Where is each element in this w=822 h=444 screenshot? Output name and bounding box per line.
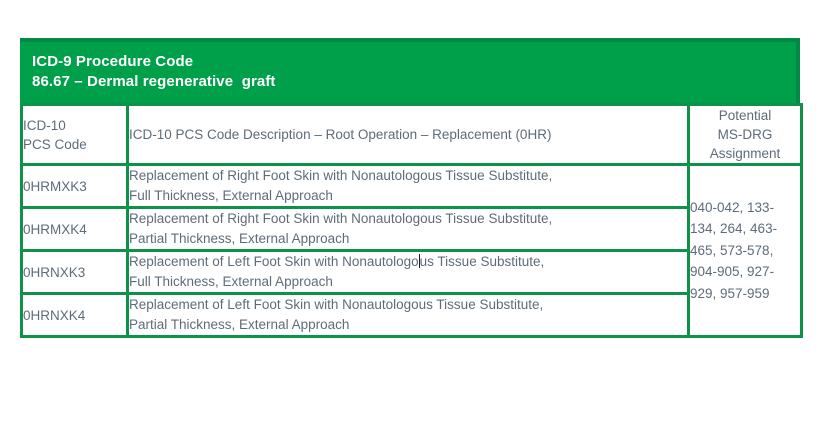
- cell-description-line1-part-a: Replacement of Left Foot Skin with Nonau…: [129, 254, 419, 269]
- banner-title-line1: ICD-9 Procedure Code: [32, 52, 796, 72]
- cell-pcs-code: 0HRMXK4: [22, 208, 128, 251]
- cell-description-line2: Full Thickness, External Approach: [129, 272, 687, 292]
- column-header-msdrg: Potential MS-DRG Assignment: [689, 105, 802, 165]
- cell-pcs-code: 0HRMXK3: [22, 165, 128, 208]
- page-canvas: ICD-9 Procedure Code 86.67 – Dermal rege…: [0, 0, 822, 444]
- column-header-msdrg-line3: Assignment: [690, 144, 800, 163]
- column-header-pcs-code-line2: PCS Code: [23, 135, 126, 154]
- cell-description-line2: Full Thickness, External Approach: [129, 186, 687, 206]
- table-row: 0HRMXK4 Replacement of Right Foot Skin w…: [22, 208, 802, 251]
- banner-header: ICD-9 Procedure Code 86.67 – Dermal rege…: [20, 38, 800, 103]
- column-header-pcs-code-line1: ICD-10: [23, 116, 126, 135]
- cell-description-line1-with-caret: Replacement of Left Foot Skin with Nonau…: [129, 252, 687, 272]
- cell-description[interactable]: Replacement of Left Foot Skin with Nonau…: [128, 294, 689, 337]
- cell-description-line1: Replacement of Right Foot Skin with Nona…: [129, 209, 687, 229]
- column-header-msdrg-line1: Potential: [690, 106, 800, 125]
- icd-reference-card: ICD-9 Procedure Code 86.67 – Dermal rege…: [20, 38, 800, 338]
- cell-description-line1-part-b: us Tissue Substitute,: [420, 254, 545, 269]
- table-header-row: ICD-10 PCS Code ICD-10 PCS Code Descript…: [22, 105, 802, 165]
- column-header-description: ICD-10 PCS Code Description – Root Opera…: [128, 105, 689, 165]
- table-row: 0HRNXK4 Replacement of Left Foot Skin wi…: [22, 294, 802, 337]
- banner-title-line2: 86.67 – Dermal regenerative graft: [32, 72, 796, 92]
- cell-description-line1: Replacement of Right Foot Skin with Nona…: [129, 166, 687, 186]
- table-row: 0HRNXK3 Replacement of Left Foot Skin wi…: [22, 251, 802, 294]
- column-header-msdrg-line2: MS-DRG: [690, 125, 800, 144]
- cell-description[interactable]: Replacement of Right Foot Skin with Nona…: [128, 208, 689, 251]
- cell-description[interactable]: Replacement of Right Foot Skin with Nona…: [128, 165, 689, 208]
- cell-pcs-code: 0HRNXK3: [22, 251, 128, 294]
- cell-description[interactable]: Replacement of Left Foot Skin with Nonau…: [128, 251, 689, 294]
- cell-description-line2: Partial Thickness, External Approach: [129, 315, 687, 335]
- cell-msdrg-assignment: 040-042, 133-134, 264, 463-465, 573-578,…: [689, 165, 802, 337]
- cell-pcs-code: 0HRNXK4: [22, 294, 128, 337]
- table-row: 0HRMXK3 Replacement of Right Foot Skin w…: [22, 165, 802, 208]
- column-header-pcs-code: ICD-10 PCS Code: [22, 105, 128, 165]
- cell-description-line1: Replacement of Left Foot Skin with Nonau…: [129, 295, 687, 315]
- icd10-pcs-code-table: ICD-10 PCS Code ICD-10 PCS Code Descript…: [20, 103, 803, 338]
- cell-description-line2: Partial Thickness, External Approach: [129, 229, 687, 249]
